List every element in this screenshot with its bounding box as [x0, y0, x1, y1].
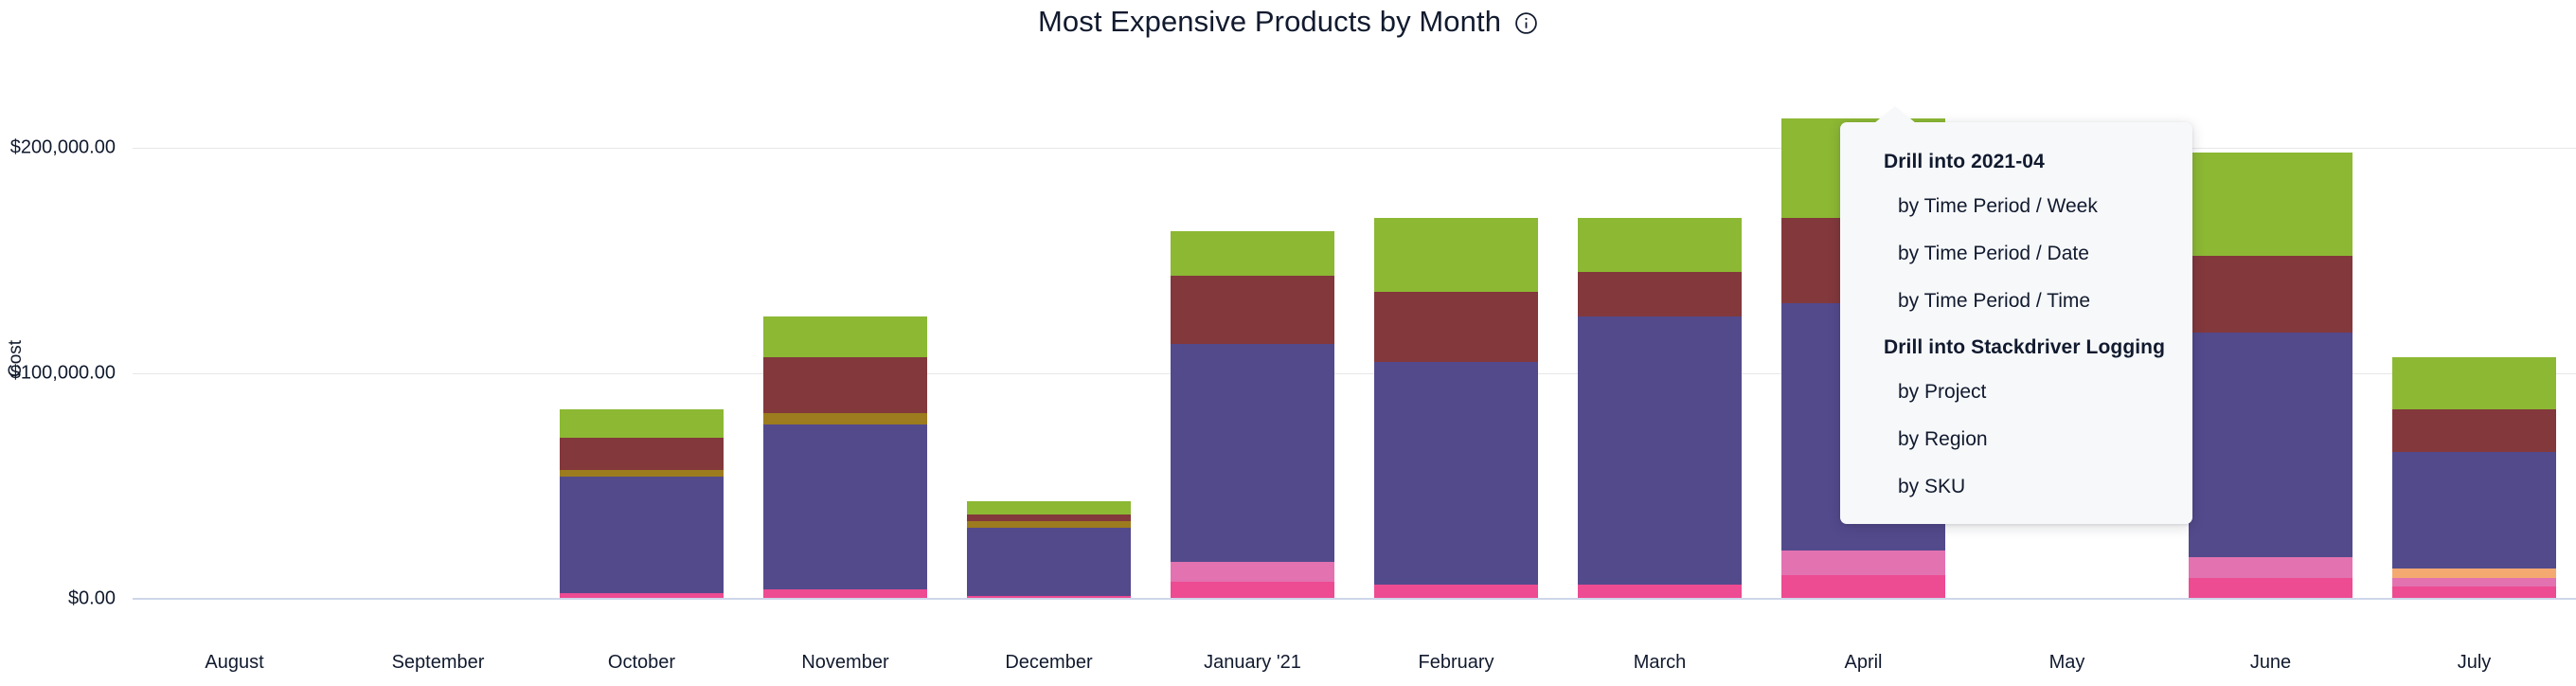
bar-segment-purple[interactable] — [967, 528, 1131, 595]
y-tick-label-200k: $200,000.00 — [10, 137, 116, 159]
bar-segment-orange[interactable] — [2392, 569, 2556, 578]
x-axis-label-july: July — [2458, 652, 2492, 674]
x-axis-label-january-21: January '21 — [1204, 652, 1301, 674]
bar-segment-pink-dark[interactable] — [967, 596, 1131, 598]
menu-item-by-sku[interactable]: by SKU — [1840, 463, 2192, 511]
bar-segment-pink-light[interactable] — [2189, 557, 2352, 577]
bar-segment-green[interactable] — [560, 409, 724, 439]
bar-segment-olive[interactable] — [967, 521, 1131, 528]
bar-march[interactable] — [1578, 218, 1742, 598]
bar-segment-pink-dark[interactable] — [1578, 585, 1742, 598]
bar-segment-pink-dark[interactable] — [1374, 585, 1538, 598]
bar-segment-green[interactable] — [2189, 153, 2352, 256]
bar-segment-dark-red[interactable] — [560, 438, 724, 469]
bar-segment-pink-light[interactable] — [2392, 578, 2556, 587]
bar-december[interactable] — [967, 501, 1131, 598]
drill-menu-heading-time: Drill into 2021-04 — [1840, 143, 2192, 183]
bar-segment-pink-dark[interactable] — [2189, 578, 2352, 598]
bar-segment-pink-dark[interactable] — [2392, 587, 2556, 598]
x-axis-label-september: September — [392, 652, 485, 674]
x-axis-label-october: October — [608, 652, 675, 674]
bar-segment-purple[interactable] — [2189, 333, 2352, 558]
x-axis-label-march: March — [1634, 652, 1687, 674]
bar-segment-pink-light[interactable] — [1781, 551, 1945, 575]
x-axis-label-august: August — [205, 652, 263, 674]
drill-menu-section-stackdriver: Drill into Stackdriver Logging by Projec… — [1840, 325, 2192, 511]
bar-segment-dark-red[interactable] — [1578, 272, 1742, 317]
bar-july[interactable] — [2392, 357, 2556, 598]
bar-segment-olive[interactable] — [560, 470, 724, 477]
menu-item-by-project[interactable]: by Project — [1840, 369, 2192, 416]
chart-title-bar: Most Expensive Products by Month — [0, 0, 2576, 44]
bar-segment-purple[interactable] — [1578, 316, 1742, 585]
bar-segment-dark-red[interactable] — [2392, 409, 2556, 452]
plot-area — [133, 44, 2576, 650]
bar-february[interactable] — [1374, 218, 1538, 598]
bar-segment-pink-light[interactable] — [1171, 562, 1334, 582]
page-title: Most Expensive Products by Month — [1038, 5, 1501, 39]
x-axis-label-december: December — [1005, 652, 1092, 674]
menu-item-by-time-period-time[interactable]: by Time Period / Time — [1840, 278, 2192, 325]
bar-november[interactable] — [763, 316, 927, 598]
x-axis-label-february: February — [1418, 652, 1494, 674]
bar-segment-dark-red[interactable] — [1171, 276, 1334, 343]
bar-segment-dark-red[interactable] — [1374, 292, 1538, 362]
gridline-200k — [133, 148, 2576, 149]
bar-segment-green[interactable] — [967, 501, 1131, 514]
bar-segment-olive[interactable] — [763, 413, 927, 424]
bar-segment-green[interactable] — [2392, 357, 2556, 409]
info-circle-icon[interactable] — [1514, 11, 1538, 35]
menu-item-by-time-period-week[interactable]: by Time Period / Week — [1840, 183, 2192, 230]
bar-segment-green[interactable] — [1374, 218, 1538, 292]
y-axis: Cost $200,000.00 $100,000.00 $0.00 — [0, 44, 133, 650]
x-axis-label-april: April — [1844, 652, 1882, 674]
chart-container: Most Expensive Products by Month Cost $2… — [0, 0, 2576, 686]
x-axis-labels: AugustSeptemberOctoberNovemberDecemberJa… — [133, 652, 2576, 686]
x-axis-line — [133, 598, 2576, 600]
bar-october[interactable] — [560, 409, 724, 599]
bar-segment-purple[interactable] — [763, 424, 927, 588]
x-axis-label-june: June — [2250, 652, 2291, 674]
bar-segment-dark-red[interactable] — [2189, 256, 2352, 333]
bar-segment-pink-dark[interactable] — [763, 589, 927, 599]
menu-item-by-region[interactable]: by Region — [1840, 416, 2192, 463]
bar-segment-green[interactable] — [1578, 218, 1742, 272]
drill-menu-heading-stackdriver: Drill into Stackdriver Logging — [1840, 329, 2192, 369]
bar-segment-purple[interactable] — [2392, 452, 2556, 569]
x-axis-label-may: May — [2049, 652, 2085, 674]
y-tick-label-0: $0.00 — [68, 588, 116, 610]
bar-june[interactable] — [2189, 153, 2352, 598]
bar-segment-purple[interactable] — [1374, 362, 1538, 585]
bar-segment-pink-dark[interactable] — [560, 593, 724, 598]
bar-segment-green[interactable] — [1171, 231, 1334, 277]
bar-segment-green[interactable] — [763, 316, 927, 357]
bar-segment-dark-red[interactable] — [763, 357, 927, 413]
x-axis-label-november: November — [801, 652, 888, 674]
bar-segment-pink-dark[interactable] — [1781, 575, 1945, 598]
bar-january-21[interactable] — [1171, 231, 1334, 598]
drill-context-menu[interactable]: Drill into 2021-04 by Time Period / Week… — [1840, 122, 2192, 524]
bar-segment-dark-red[interactable] — [967, 514, 1131, 521]
bar-segment-purple[interactable] — [560, 477, 724, 594]
bar-segment-pink-dark[interactable] — [1171, 582, 1334, 598]
y-tick-label-100k: $100,000.00 — [10, 363, 116, 385]
menu-item-by-time-period-date[interactable]: by Time Period / Date — [1840, 230, 2192, 278]
bar-segment-purple[interactable] — [1171, 344, 1334, 562]
